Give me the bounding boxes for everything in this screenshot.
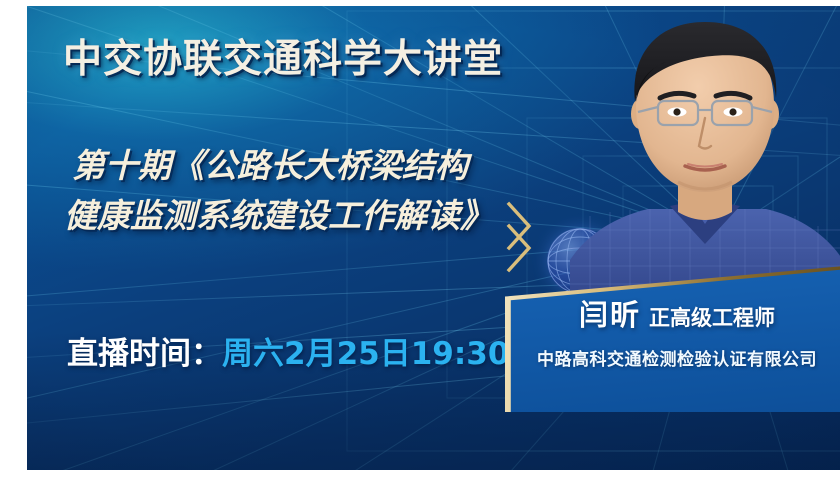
speaker-portrait (570, 6, 840, 298)
speaker-panel: 闫昕正高级工程师 中路高科交通检测检验认证有限公司 (505, 264, 840, 412)
speaker-name: 闫昕 (579, 298, 641, 332)
speaker-name-row: 闫昕正高级工程师 (505, 292, 840, 334)
poster-canvas: 中交协联交通科学大讲堂 第十期《公路长大桥梁结构 健康监测系统建设工作解读》 (27, 6, 840, 470)
speaker-organization: 中路高科交通检测检验认证有限公司 (505, 345, 840, 370)
schedule-label: 直播时间： (67, 336, 222, 372)
panel-text: 闫昕正高级工程师 中路高科交通检测检验认证有限公司 (505, 292, 840, 370)
schedule-value: 周六2月25日19:30 (222, 336, 509, 372)
episode-subtitle-line2: 健康监测系统建设工作解读》 (64, 191, 493, 241)
episode-subtitle-line1: 第十期《公路长大桥梁结构 (72, 146, 468, 185)
schedule-line: 直播时间：周六2月25日19:30 (67, 328, 509, 373)
episode-subtitle: 第十期《公路长大桥梁结构 健康监测系统建设工作解读》 (72, 141, 493, 241)
page-title: 中交协联交通科学大讲堂 (63, 28, 503, 84)
speaker-role: 正高级工程师 (649, 306, 775, 330)
live-stream-poster: 中交协联交通科学大讲堂 第十期《公路长大桥梁结构 健康监测系统建设工作解读》 (0, 0, 840, 480)
